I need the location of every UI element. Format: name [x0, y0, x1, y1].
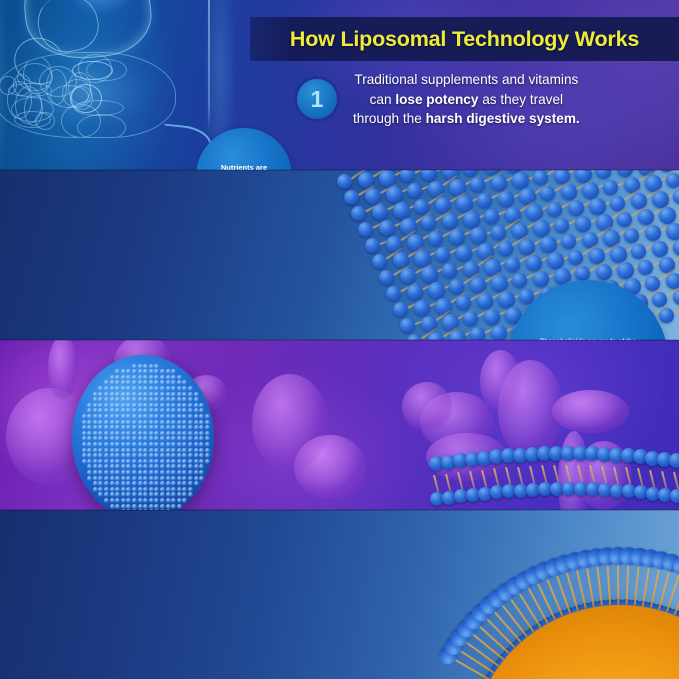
- liposome-surface-bump: [121, 375, 126, 380]
- lipid-head: [575, 266, 590, 281]
- liposome-surface-bump: [160, 397, 165, 402]
- liposome-surface-bump: [121, 448, 126, 453]
- text-line: through the harsh digestive system.: [353, 109, 580, 129]
- liposome-surface-bump: [138, 448, 143, 453]
- liposome-surface-bump: [138, 397, 143, 402]
- liposome-surface-bump: [160, 476, 165, 481]
- panel-step-4: 4 Now, more nutrient canreach its destin…: [0, 510, 679, 679]
- liposome-surface-bump: [160, 492, 165, 497]
- liposome-surface-bump: [98, 436, 103, 441]
- liposome-surface-bump: [115, 436, 120, 441]
- liposome-surface-bump: [160, 375, 165, 380]
- lipid-head: [669, 453, 679, 468]
- liposome-surface-bump: [87, 459, 92, 464]
- liposome-surface-bump: [121, 470, 126, 475]
- liposome-surface-bump: [171, 403, 176, 408]
- liposome-surface-bump: [188, 431, 193, 436]
- liposome-surface-bump: [138, 403, 143, 408]
- lipid-head: [526, 255, 542, 271]
- lipid-head: [498, 291, 515, 308]
- liposome-surface-bump: [188, 414, 193, 419]
- liposome-surface-bump: [154, 442, 159, 447]
- liposome-surface-bump: [126, 464, 131, 469]
- liposome-surface-bump: [154, 408, 159, 413]
- intestine-coil: [72, 61, 113, 80]
- lipid-head: [470, 227, 487, 244]
- lipid-head: [666, 173, 679, 188]
- lipid-head: [547, 252, 564, 269]
- lipid-head: [456, 245, 472, 261]
- liposome-surface-bump: [121, 492, 126, 497]
- liposome-surface-bump: [126, 425, 131, 430]
- liposome-surface-bump: [121, 498, 126, 503]
- liposome-surface-bump: [166, 397, 171, 402]
- liposome-surface-bump: [149, 498, 154, 503]
- liposome-surface-bump: [132, 380, 137, 385]
- liposome-surface-bump: [126, 397, 131, 402]
- liposome-surface-bump: [110, 448, 115, 453]
- liposome-surface-bump: [110, 504, 115, 509]
- lipid-head: [449, 229, 465, 245]
- liposome-surface-bump: [205, 448, 210, 453]
- liposome-surface-bump: [138, 380, 143, 385]
- lipid-head: [491, 175, 507, 191]
- lipid-head: [498, 241, 513, 256]
- liposome-surface-bump: [110, 414, 115, 419]
- liposome-surface-bump: [182, 476, 187, 481]
- liposome-surface-bump: [121, 431, 126, 436]
- lipid-head: [372, 254, 387, 269]
- lipid-head: [568, 200, 584, 216]
- liposome-surface-bump: [177, 386, 182, 391]
- liposome-surface-bump: [104, 414, 109, 419]
- liposome-surface-bump: [160, 498, 165, 503]
- liposome-surface-bump: [160, 420, 165, 425]
- liposome-surface-bump: [171, 380, 176, 385]
- liposome-surface-bump: [154, 481, 159, 486]
- liposome-surface-bump: [87, 425, 92, 430]
- liposome-surface-bump: [160, 453, 165, 458]
- liposome-surface-bump: [87, 453, 92, 458]
- liposome-surface-bump: [138, 504, 143, 509]
- lipid-head: [372, 204, 388, 220]
- liposome-surface-bump: [98, 408, 103, 413]
- lipid-head: [540, 186, 555, 201]
- page-title: How Liposomal Technology Works: [290, 27, 639, 52]
- liposome-surface-bump: [182, 386, 187, 391]
- liposome-surface-bump: [143, 481, 148, 486]
- liposome-surface-bump: [93, 481, 98, 486]
- liposome-surface-bump: [154, 476, 159, 481]
- liposome-surface-bump: [166, 481, 171, 486]
- lipid-head: [421, 215, 436, 230]
- liposome-surface-bump: [188, 470, 193, 475]
- liposome-surface-bump: [143, 487, 148, 492]
- liposome-surface-bump: [182, 431, 187, 436]
- text-line: Traditional supplements and vitamins: [353, 70, 580, 90]
- liposome-surface-bump: [110, 403, 115, 408]
- liposome-surface-bump: [194, 453, 199, 458]
- liposome-surface-bump: [121, 425, 126, 430]
- liposome-surface-bump: [132, 420, 137, 425]
- liposome-surface-bump: [188, 397, 193, 402]
- liposome-surface-bump: [138, 481, 143, 486]
- intestine-coil: [46, 69, 67, 105]
- liposome-surface-bump: [149, 470, 154, 475]
- liposome-surface-bump: [149, 397, 154, 402]
- liposome-surface-bump: [188, 408, 193, 413]
- lipid-head: [568, 250, 583, 265]
- liposome-surface-bump: [115, 380, 120, 385]
- liposome-surface-bump: [160, 464, 165, 469]
- liposome-surface-bump: [98, 476, 103, 481]
- liposome-surface-bump: [115, 431, 120, 436]
- lipid-head: [491, 325, 507, 340]
- liposome-surface-bump: [93, 476, 98, 481]
- liposome-surface-bump: [143, 470, 148, 475]
- liposome-surface-bump: [149, 403, 154, 408]
- liposome-surface-bump: [104, 403, 109, 408]
- liposome-surface-bump: [132, 403, 137, 408]
- liposome-surface-bump: [166, 492, 171, 497]
- lipid-head: [505, 257, 520, 272]
- liposome-surface-bump: [160, 442, 165, 447]
- liposome-surface-bump: [177, 408, 182, 413]
- liposome-surface-bump: [110, 498, 115, 503]
- liposome-surface-bump: [143, 380, 148, 385]
- liposome-surface-bump: [194, 397, 199, 402]
- panel-divider-2: [0, 339, 679, 341]
- liposome-surface-bump: [126, 380, 131, 385]
- liposome-surface-bump: [143, 453, 148, 458]
- liposome-surface-bump: [199, 470, 204, 475]
- liposome-surface-bump: [160, 369, 165, 374]
- liposome-surface-bump: [98, 487, 103, 492]
- liposome-surface-bump: [98, 386, 103, 391]
- liposome-surface-bump: [154, 403, 159, 408]
- liposome-surface-bump: [182, 425, 187, 430]
- liposome-surface-bump: [171, 487, 176, 492]
- lipid-head: [673, 189, 679, 204]
- liposome-surface-bump: [138, 487, 143, 492]
- lipid-head: [407, 183, 422, 198]
- liposome-surface-bump: [98, 453, 103, 458]
- liposome-surface-bump: [110, 464, 115, 469]
- liposome-surface-bump: [205, 414, 210, 419]
- liposome-surface-bump: [132, 464, 137, 469]
- lipid-head: [477, 193, 492, 208]
- liposome-surface-bump: [166, 414, 171, 419]
- liposome-surface-bump: [98, 492, 103, 497]
- liposome-surface-bump: [171, 464, 176, 469]
- lipid-head: [673, 289, 679, 305]
- liposome-surface-bump: [138, 386, 143, 391]
- liposome-surface-bump: [121, 369, 126, 374]
- liposome-surface-bump: [138, 464, 143, 469]
- liposome-surface-bump: [138, 375, 143, 380]
- liposome-surface-bump: [132, 414, 137, 419]
- liposome-surface-bump: [166, 504, 171, 509]
- liposome-surface-bump: [82, 431, 87, 436]
- liposome-surface-bump: [149, 442, 154, 447]
- lipid-head: [512, 273, 527, 288]
- lipid-head: [393, 202, 410, 219]
- liposome-sphere-illustration: [72, 355, 214, 510]
- liposome-surface-bump: [154, 397, 159, 402]
- lipid-head: [491, 225, 506, 240]
- liposome-surface-bump: [149, 448, 154, 453]
- liposome-surface-bump: [98, 448, 103, 453]
- liposome-surface-bump: [177, 397, 182, 402]
- liposome-surface-bump: [194, 476, 199, 481]
- liposome-surface-bump: [115, 420, 120, 425]
- liposome-surface-bump: [98, 442, 103, 447]
- liposome-surface-bump: [182, 420, 187, 425]
- liposome-surface-bump: [132, 364, 137, 369]
- liposome-surface-bump: [138, 364, 143, 369]
- lipid-head: [400, 268, 416, 284]
- lipid-head: [400, 318, 415, 333]
- liposome-surface-bump: [177, 392, 182, 397]
- liposome-surface-bump: [104, 464, 109, 469]
- liposome-surface-bump: [98, 459, 103, 464]
- liposome-surface-bump: [154, 504, 159, 509]
- liposome-surface-bump: [160, 386, 165, 391]
- liposome-surface-bump: [205, 442, 210, 447]
- intestine-coil: [70, 84, 102, 113]
- liposome-surface-bump: [205, 420, 210, 425]
- lipid-head: [659, 308, 674, 323]
- liposome-surface-bump: [87, 403, 92, 408]
- liposome-surface-bump: [171, 476, 176, 481]
- liposome-surface-bump: [188, 481, 193, 486]
- liposome-surface-bump: [138, 470, 143, 475]
- liposome-surface-bump: [115, 425, 120, 430]
- liposome-surface-bump: [182, 397, 187, 402]
- liposome-surface-bump: [154, 380, 159, 385]
- liposome-surface-bump: [121, 397, 126, 402]
- liposome-surface-bump: [115, 369, 120, 374]
- liposome-surface-bump: [177, 487, 182, 492]
- liposome-surface-bump: [143, 375, 148, 380]
- lipid-head: [358, 222, 373, 237]
- liposome-surface-bump: [126, 386, 131, 391]
- liposome-surface-bump: [177, 403, 182, 408]
- liposome-surface-bump: [149, 453, 154, 458]
- liposome-surface-bump: [149, 364, 154, 369]
- panel-step-3: 3 This helps shieldnutrients from the st…: [0, 340, 679, 510]
- lipid-head: [666, 273, 679, 289]
- liposome-surface-bump: [166, 420, 171, 425]
- liposome-surface-bump: [121, 476, 126, 481]
- liposome-surface-bump: [171, 436, 176, 441]
- liposome-surface-bump: [104, 498, 109, 503]
- liposome-surface-bump: [166, 392, 171, 397]
- liposome-surface-bump: [154, 453, 159, 458]
- liposome-surface-bump: [93, 464, 98, 469]
- liposome-surface-bump: [188, 386, 193, 391]
- liposome-surface-bump: [98, 425, 103, 430]
- lipid-head: [533, 271, 549, 287]
- liposome-surface-bump: [126, 498, 131, 503]
- liposome-surface-bump: [121, 487, 126, 492]
- liposome-surface-bump: [182, 453, 187, 458]
- title-band: How Liposomal Technology Works: [250, 17, 679, 61]
- liposome-surface-bump: [182, 380, 187, 385]
- liposome-surface-bump: [149, 436, 154, 441]
- liposome-surface-bump: [132, 369, 137, 374]
- liposome-surface-bump: [199, 459, 204, 464]
- lipid-head: [414, 300, 430, 316]
- liposome-surface-bump: [87, 408, 92, 413]
- lipid-head: [631, 244, 646, 259]
- lipid-head: [652, 292, 667, 307]
- liposome-surface-bump: [149, 459, 154, 464]
- liposome-surface-bump: [98, 403, 103, 408]
- lipid-head: [533, 170, 548, 185]
- liposome-surface-bump: [104, 380, 109, 385]
- liposome-surface-bump: [154, 375, 159, 380]
- liposome-surface-bump: [177, 504, 182, 509]
- lipid-head: [463, 311, 478, 326]
- liposome-surface-bump: [149, 392, 154, 397]
- liposome-surface-bump: [132, 392, 137, 397]
- lipid-head: [365, 188, 381, 204]
- liposome-surface-bump: [98, 470, 103, 475]
- lipid-head: [596, 264, 612, 280]
- liposome-surface-bump: [171, 442, 176, 447]
- lipid-head: [624, 228, 639, 243]
- liposome-surface-bump: [110, 453, 115, 458]
- liposome-surface-bump: [121, 408, 126, 413]
- liposome-surface-bump: [160, 403, 165, 408]
- liposome-surface-bump: [154, 459, 159, 464]
- liposome-surface-bump: [110, 481, 115, 486]
- liposome-surface-bump: [115, 470, 120, 475]
- liposome-surface-bump: [154, 487, 159, 492]
- liposome-surface-bump: [104, 470, 109, 475]
- villus-blob: [552, 390, 629, 433]
- liposome-surface-bump: [194, 431, 199, 436]
- liposome-surface-bump: [110, 431, 115, 436]
- liposome-surface-bump: [160, 392, 165, 397]
- liposome-surface-bump: [182, 408, 187, 413]
- liposome-surface-bump: [160, 408, 165, 413]
- liposome-surface-bump: [205, 425, 210, 430]
- liposome-surface-bump: [82, 453, 87, 458]
- liposome-surface-bump: [115, 392, 120, 397]
- lipid-head: [484, 309, 500, 325]
- lipid-head: [603, 180, 618, 195]
- liposome-surface-bump: [199, 408, 204, 413]
- liposome-surface-bump: [177, 464, 182, 469]
- liposome-surface-bump: [115, 492, 120, 497]
- liposome-surface-bump: [182, 392, 187, 397]
- lipid-head: [386, 286, 401, 301]
- liposome-surface-bump: [149, 504, 154, 509]
- lipid-head: [351, 206, 366, 221]
- liposome-surface-bump: [126, 431, 131, 436]
- lipid-head: [659, 207, 676, 224]
- liposome-surface-bump: [138, 442, 143, 447]
- liposome-surface-bump: [188, 448, 193, 453]
- liposome-surface-bump: [104, 442, 109, 447]
- liposome-surface-bump: [182, 481, 187, 486]
- lipid-head: [442, 263, 457, 278]
- intestines-illustration: [0, 52, 176, 138]
- liposome-surface-bump: [143, 403, 148, 408]
- liposome-surface-bump: [171, 453, 176, 458]
- liposome-surface-bump: [132, 431, 137, 436]
- liposome-surface-bump: [132, 386, 137, 391]
- liposome-surface-bump: [166, 386, 171, 391]
- liposome-surface-bump: [110, 470, 115, 475]
- lipid-head: [596, 170, 611, 179]
- liposome-surface-bump: [143, 476, 148, 481]
- step-1-text: Traditional supplements and vitaminscan …: [353, 70, 580, 129]
- liposome-surface-bump: [194, 442, 199, 447]
- liposome-surface-bump: [154, 386, 159, 391]
- liposome-surface-bump: [87, 442, 92, 447]
- liposome-surface-bump: [110, 487, 115, 492]
- liposome-surface-bump: [160, 431, 165, 436]
- liposome-surface-bump: [166, 476, 171, 481]
- liposome-surface-bump: [143, 504, 148, 509]
- lipid-head: [498, 191, 514, 207]
- liposome-surface-bump: [182, 442, 187, 447]
- lipid-head: [670, 489, 679, 503]
- liposome-surface-bump: [132, 436, 137, 441]
- liposome-surface-bump: [98, 481, 103, 486]
- liposome-surface-bump: [143, 414, 148, 419]
- liposome-surface-bump: [104, 436, 109, 441]
- liposome-surface-bump: [121, 464, 126, 469]
- liposome-surface-bump: [205, 459, 210, 464]
- lipid-head: [561, 184, 577, 200]
- liposome-surface-bump: [171, 459, 176, 464]
- liposome-surface-bump: [115, 487, 120, 492]
- liposome-surface-bump: [126, 369, 131, 374]
- infographic-root: Nutrients areabsorbed throughthe intesti…: [0, 0, 679, 679]
- liposome-surface-bump: [171, 504, 176, 509]
- liposome-surface-bump: [160, 487, 165, 492]
- liposome-surface-bump: [177, 498, 182, 503]
- liposome-surface-bump: [121, 403, 126, 408]
- liposome-surface-bump: [98, 414, 103, 419]
- liposome-surface-bump: [126, 403, 131, 408]
- liposome-surface-bump: [132, 476, 137, 481]
- liposome-surface-bump: [166, 375, 171, 380]
- step-1: 1 Traditional supplements and vitaminsca…: [297, 70, 667, 129]
- liposome-surface-bump: [110, 442, 115, 447]
- liposome-surface-bump: [199, 464, 204, 469]
- liposome-surface-bump: [194, 448, 199, 453]
- lipid-head: [652, 241, 668, 257]
- liposome-surface-bump: [138, 414, 143, 419]
- liposome-surface-bump: [160, 504, 165, 509]
- liposome-surface-bump: [199, 403, 204, 408]
- liposome-surface-bump: [110, 392, 115, 397]
- lipid-head: [449, 279, 464, 294]
- liposome-surface-bump: [132, 487, 137, 492]
- lipid-head: [386, 186, 403, 203]
- liposome-surface-bump: [87, 414, 92, 419]
- liposome-surface-bump: [154, 414, 159, 419]
- liposome-surface-bump: [138, 431, 143, 436]
- liposome-surface-bump: [93, 397, 98, 402]
- liposome-surface-bump: [199, 476, 204, 481]
- liposome-surface-bump: [177, 442, 182, 447]
